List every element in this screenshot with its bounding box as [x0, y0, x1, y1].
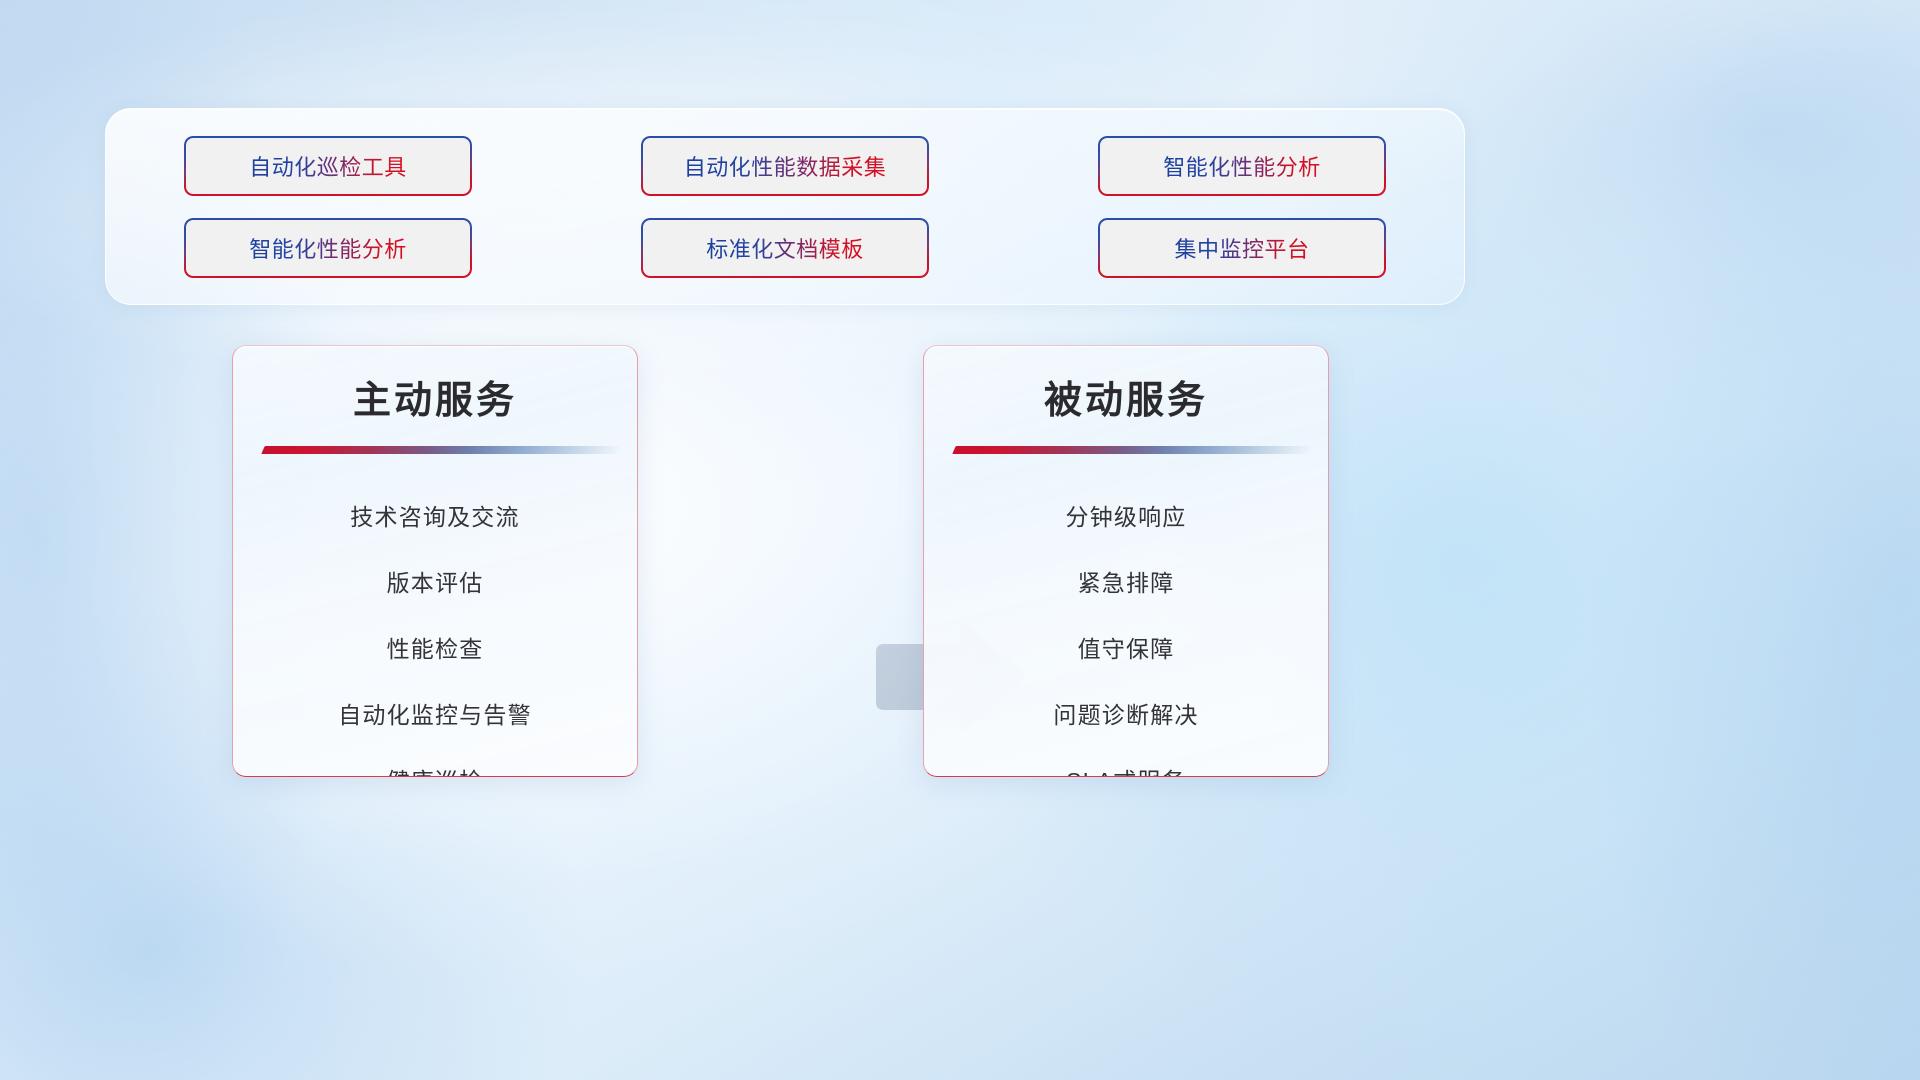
- capability-tag-label: 自动化巡检工具: [249, 150, 407, 182]
- capability-tag-auto-inspection-tool[interactable]: 自动化巡检工具: [184, 136, 472, 196]
- list-item: 健康巡检: [387, 756, 484, 778]
- capability-tags-row-2: 智能化性能分析 标准化文档模板 集中监控平台: [184, 218, 1386, 278]
- list-item: 技术咨询及交流: [350, 492, 519, 543]
- capability-tag-intelligent-perf-analysis[interactable]: 智能化性能分析: [1098, 136, 1386, 196]
- card-title: 主动服务: [259, 378, 611, 426]
- list-item: 紧急排障: [1078, 558, 1175, 609]
- capability-tag-label: 智能化性能分析: [249, 232, 407, 264]
- list-item: 版本评估: [387, 558, 484, 609]
- card-divider: [261, 446, 623, 454]
- service-card-passive: 被动服务 分钟级响应 紧急排障 值守保障 问题诊断解决 SLA式服务: [923, 345, 1329, 777]
- service-card-active: 主动服务 技术咨询及交流 版本评估 性能检查 自动化监控与告警 健康巡检: [232, 345, 638, 777]
- capability-tag-label: 智能化性能分析: [1163, 150, 1321, 182]
- capability-tag-central-monitoring-platform[interactable]: 集中监控平台: [1098, 218, 1386, 278]
- card-item-list: 分钟级响应 紧急排障 值守保障 问题诊断解决 SLA式服务: [950, 492, 1302, 778]
- list-item: 问题诊断解决: [1053, 690, 1198, 741]
- capability-tag-label: 集中监控平台: [1174, 232, 1309, 264]
- capability-tag-label: 自动化性能数据采集: [684, 150, 887, 182]
- capability-tag-intelligent-perf-analysis-2[interactable]: 智能化性能分析: [184, 218, 472, 278]
- list-item: 值守保障: [1078, 624, 1175, 675]
- list-item: 自动化监控与告警: [338, 690, 532, 741]
- list-item: 性能检查: [387, 624, 484, 675]
- card-item-list: 技术咨询及交流 版本评估 性能检查 自动化监控与告警 健康巡检: [259, 492, 611, 778]
- capability-tags-panel: 自动化巡检工具 自动化性能数据采集 智能化性能分析 智能化性能分析 标准化文档模…: [105, 108, 1465, 305]
- capability-tags-row-1: 自动化巡检工具 自动化性能数据采集 智能化性能分析: [184, 136, 1386, 196]
- capability-tag-label: 标准化文档模板: [706, 232, 864, 264]
- capability-tag-auto-perf-data-collection[interactable]: 自动化性能数据采集: [641, 136, 929, 196]
- list-item: SLA式服务: [1066, 756, 1186, 778]
- card-title: 被动服务: [950, 378, 1302, 426]
- capability-tag-standard-doc-template[interactable]: 标准化文档模板: [641, 218, 929, 278]
- list-item: 分钟级响应: [1066, 492, 1187, 543]
- card-divider: [952, 446, 1314, 454]
